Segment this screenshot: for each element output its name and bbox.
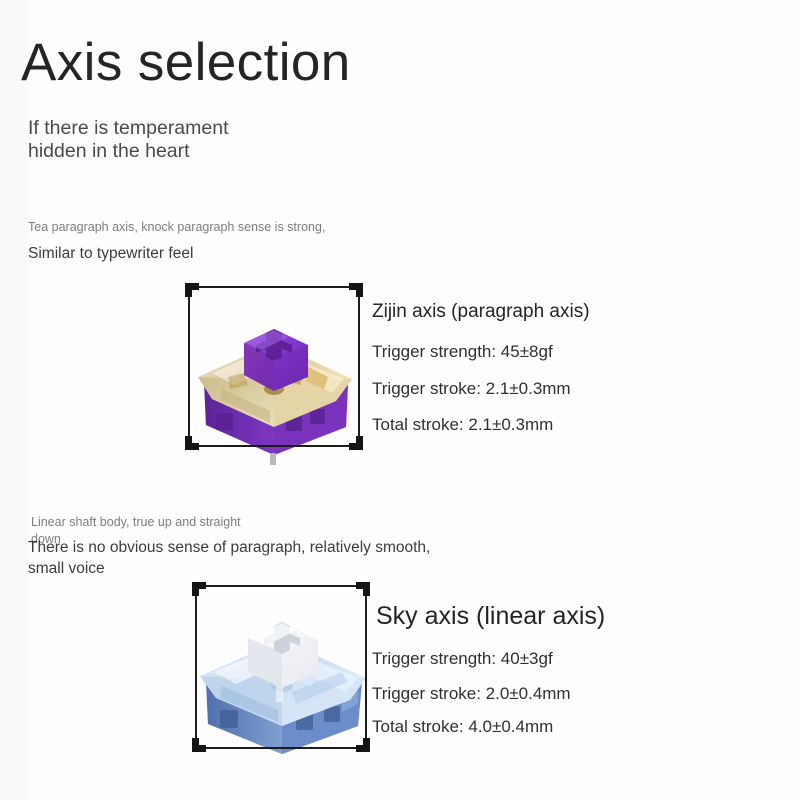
spec-title-sky: Sky axis (linear axis) [376,601,605,631]
frame-edge-bottom [199,747,363,749]
spec-line-trigger-strength-zijin: Trigger strength: 45±8gf [372,341,553,363]
crop-frame-sky [192,582,370,752]
frame-corner-bottom-left [192,738,206,752]
spec-line-trigger-stroke-zijin: Trigger stroke: 2.1±0.3mm [372,378,571,400]
spec-line-total-stroke-zijin: Total stroke: 2.1±0.3mm [372,414,553,436]
frame-corner-top-left [185,283,199,297]
spec-title-zijin: Zijin axis (paragraph axis) [372,300,590,324]
frame-corner-top-right [356,582,370,596]
section-description-secondary-zijin: Tea paragraph axis, knock paragraph sens… [28,219,325,236]
spec-line-trigger-strength-sky: Trigger strength: 40±3gf [372,648,553,670]
frame-corner-bottom-left [185,436,199,450]
spec-line-trigger-stroke-sky: Trigger stroke: 2.0±0.4mm [372,683,571,705]
frame-edge-right [365,589,367,745]
spec-line-total-stroke-sky: Total stroke: 4.0±0.4mm [372,716,553,738]
crop-frame-zijin [185,283,363,450]
frame-edge-top [199,585,363,587]
section-description-primary-sky: There is no obvious sense of paragraph, … [28,537,430,579]
page-subtitle: If there is temperament hidden in the he… [28,117,229,163]
frame-edge-left [188,290,190,443]
product-detail-page: Axis selection If there is temperament h… [0,0,800,800]
page-title: Axis selection [21,33,351,93]
frame-corner-top-right [349,283,363,297]
frame-edge-left [195,589,197,745]
section-description-primary-zijin: Similar to typewriter feel [28,243,193,264]
frame-edge-right [358,290,360,443]
frame-edge-top [192,286,356,288]
frame-corner-top-left [192,582,206,596]
frame-edge-bottom [192,445,356,447]
frame-corner-bottom-right [349,436,363,450]
frame-corner-bottom-right [356,738,370,752]
